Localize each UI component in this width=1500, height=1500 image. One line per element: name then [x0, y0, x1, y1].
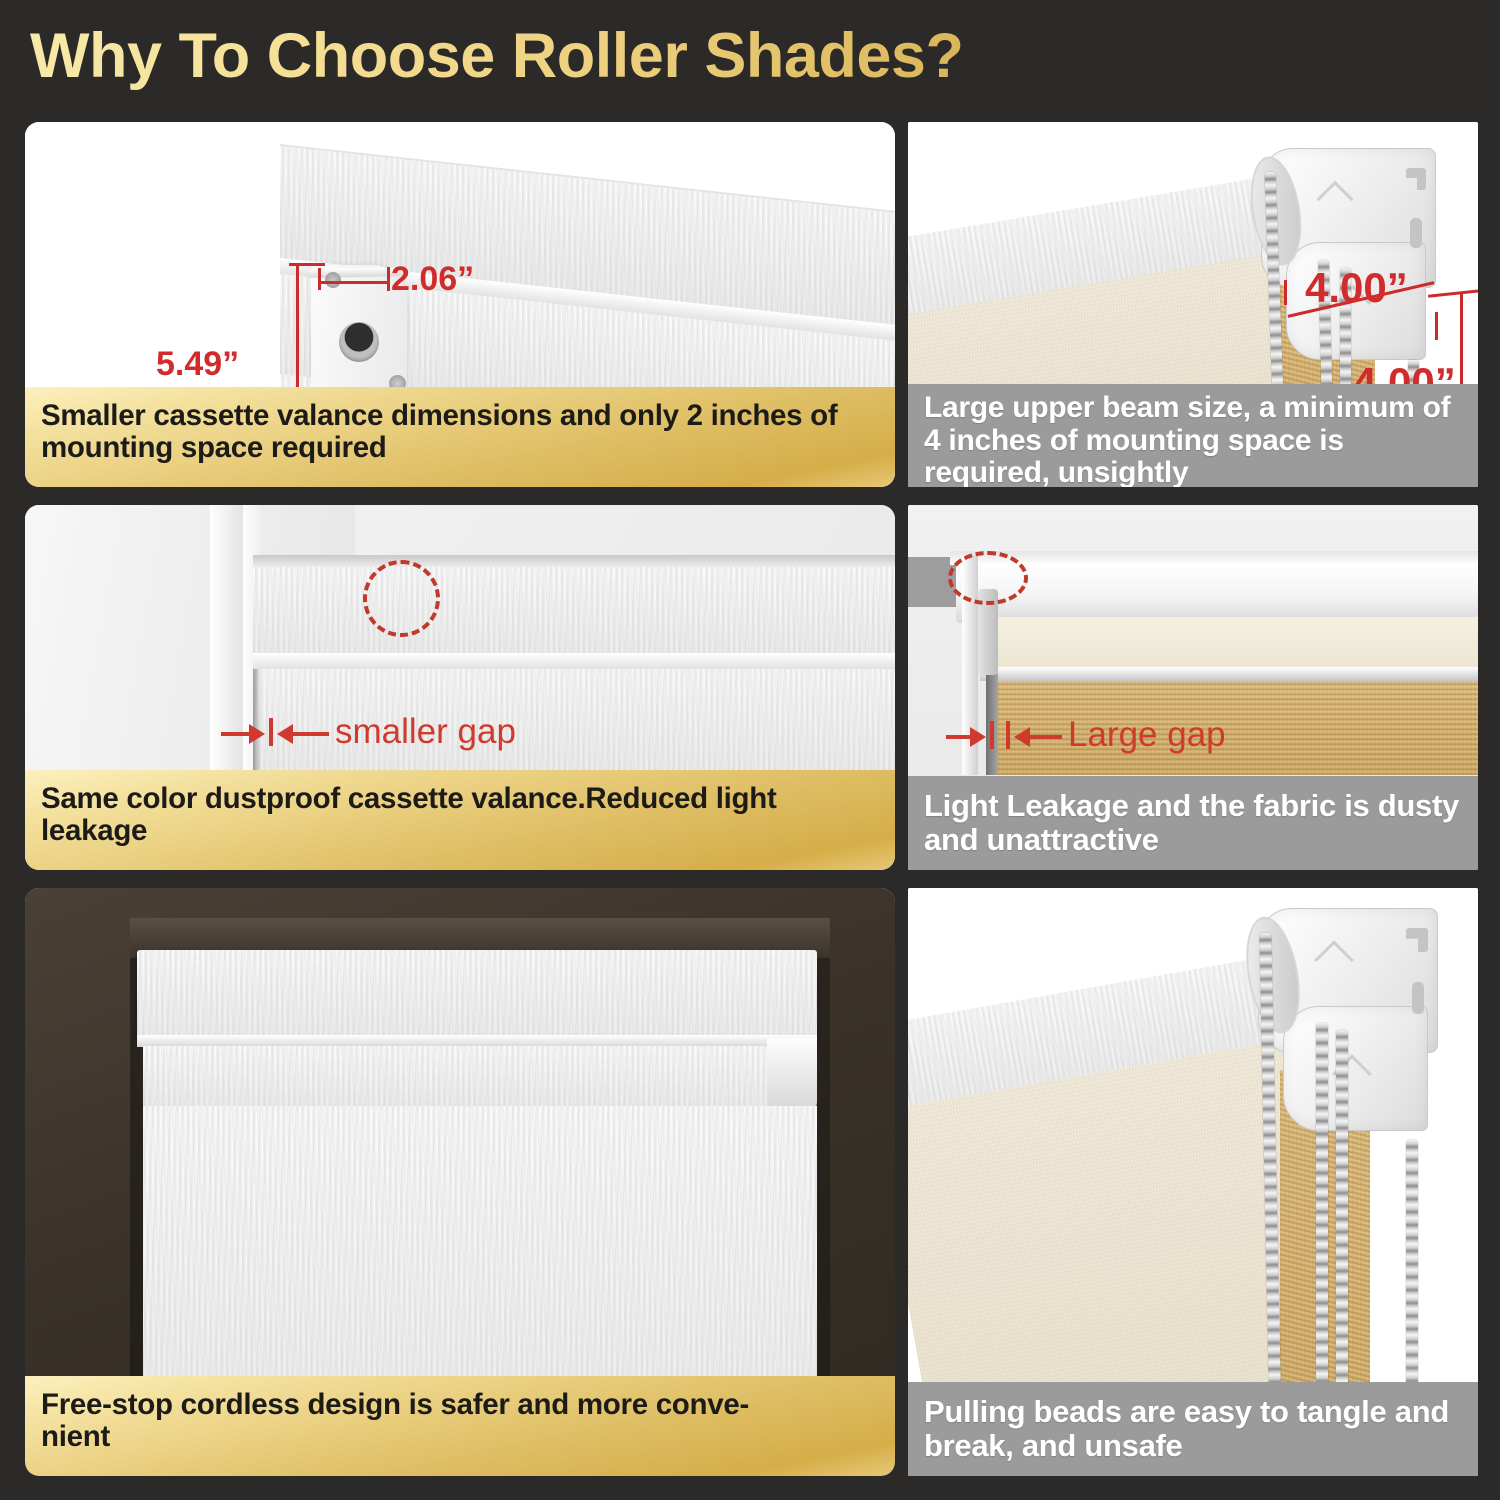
- gap-arrow-right-head-icon: [1014, 727, 1030, 747]
- valance-lower-lip: [980, 667, 1478, 681]
- gap-arrow-right-icon: [1030, 735, 1062, 739]
- gap-arrow-right-icon: [293, 732, 329, 736]
- fabric-edge-shadow: [253, 669, 261, 775]
- valance-cream-band: [986, 617, 1478, 669]
- bracket-slot-2: [1412, 982, 1424, 1014]
- panel-6-caption: Pulling beads are easy to tangle and bre…: [908, 1382, 1478, 1476]
- infographic-page: Why To Choose Roller Shades? 2.06”: [0, 0, 1500, 1500]
- height-dimension-label: 5.49”: [156, 347, 239, 381]
- gap-arrow-left-head-icon: [970, 727, 986, 747]
- beam-width-tick-left: [1284, 280, 1287, 305]
- headrail-body: [956, 563, 1478, 623]
- width-dim-tick-right: [387, 267, 390, 291]
- shade-fabric-tan: [994, 681, 1478, 775]
- large-gap-label: Large gap: [1068, 717, 1226, 752]
- clutch-socket-icon: [339, 322, 379, 362]
- panel-5-card: Free-stop cordless design is safer and m…: [25, 888, 895, 1476]
- panel-4-caption: Light Leakage and the fabric is dusty an…: [908, 776, 1478, 870]
- gap-measure-tick-icon: [269, 718, 273, 746]
- panel-6-card: Pulling beads are easy to tangle and bre…: [908, 888, 1478, 1476]
- width-dim-tick-left: [318, 268, 321, 290]
- valance-right-endcap: [767, 1038, 817, 1116]
- width-dim-line: [319, 281, 389, 284]
- valance-lower-band: [143, 1046, 815, 1108]
- beam-height-tick-top: [1428, 289, 1478, 297]
- cassette-valance-panel5: [137, 950, 817, 1040]
- height-dim-tick-top: [289, 263, 325, 266]
- panel-2-caption: Large upper beam size, a minimum of 4 in…: [908, 384, 1478, 487]
- beam-width-tick-right: [1435, 312, 1438, 340]
- gap-measure-tick-b-icon: [1006, 721, 1010, 749]
- panel-4-card: Large gap Light Leakage and the fabric i…: [908, 505, 1478, 870]
- gap-highlight-circle: [363, 560, 440, 637]
- panel-3-card: smaller gap Same color dustproof cassett…: [25, 505, 895, 870]
- bracket-slot-2: [1410, 218, 1422, 248]
- gap-arrow-left-head-icon: [249, 724, 265, 744]
- panel-1-caption: Smaller cassette valance dimensions and …: [25, 387, 895, 487]
- gap-highlight-ellipse: [948, 551, 1028, 605]
- gap-arrow-right-head-icon: [277, 724, 293, 744]
- panel-2-card: 4.00” 4.00” Large upper beam size, a min…: [908, 122, 1478, 487]
- panel-5-caption: Free-stop cordless design is safer and m…: [25, 1376, 895, 1476]
- width-dimension-label: 2.06”: [391, 262, 474, 296]
- beam-width-dimension-label: 4.00”: [1305, 267, 1408, 309]
- panel-1-card: 2.06” 5.49” Smaller cassette valance dim…: [25, 122, 895, 487]
- gap-measure-tick-a-icon: [990, 721, 994, 749]
- screw-top-icon: [325, 272, 341, 288]
- page-title: Why To Choose Roller Shades?: [30, 18, 1230, 94]
- cassette-valance-face: [253, 567, 895, 657]
- smaller-gap-label: smaller gap: [335, 714, 516, 749]
- panel-3-caption: Same color dustproof cassette valance.Re…: [25, 770, 895, 870]
